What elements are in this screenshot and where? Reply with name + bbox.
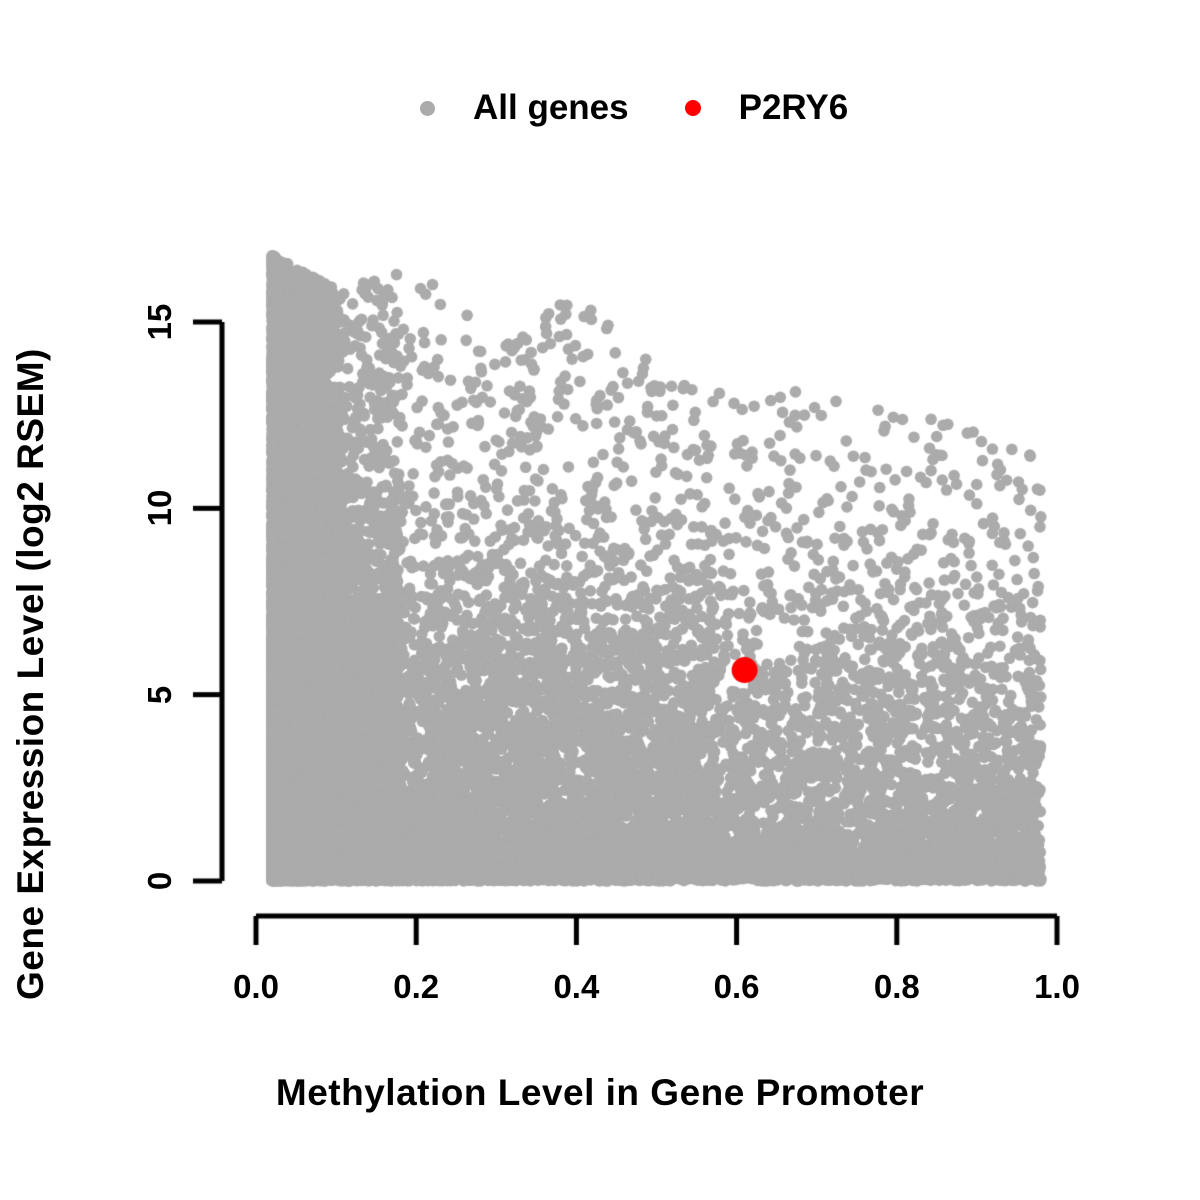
y-tick-label: 10 [141, 490, 179, 527]
x-tick-label: 0.8 [874, 968, 920, 1006]
y-tick-label: 5 [141, 685, 179, 703]
legend-marker-p2ry6-icon [685, 100, 701, 116]
legend-entry-all-genes: All genes [420, 88, 629, 128]
legend-entry-p2ry6: P2RY6 [685, 88, 849, 128]
x-axis-label: Methylation Level in Gene Promoter [0, 1072, 1200, 1114]
legend-label-p2ry6: P2RY6 [739, 88, 849, 128]
x-tick-label: 0.0 [233, 968, 279, 1006]
legend-marker-all-genes-icon [420, 101, 435, 116]
y-tick-label: 0 [141, 872, 179, 890]
y-axis-label: Gene Expression Level (log2 RSEM) [10, 0, 52, 1000]
scatter-plot-figure: All genes P2RY6 Methylation Level in Gen… [0, 0, 1200, 1200]
x-tick-label: 0.4 [553, 968, 599, 1006]
chart-legend: All genes P2RY6 [420, 82, 848, 134]
x-tick-label: 1.0 [1034, 968, 1080, 1006]
y-tick-label: 15 [141, 304, 179, 341]
scatter-plot-canvas [0, 0, 1200, 1200]
x-tick-label: 0.2 [393, 968, 439, 1006]
x-tick-label: 0.6 [714, 968, 760, 1006]
legend-label-all-genes: All genes [473, 88, 629, 128]
